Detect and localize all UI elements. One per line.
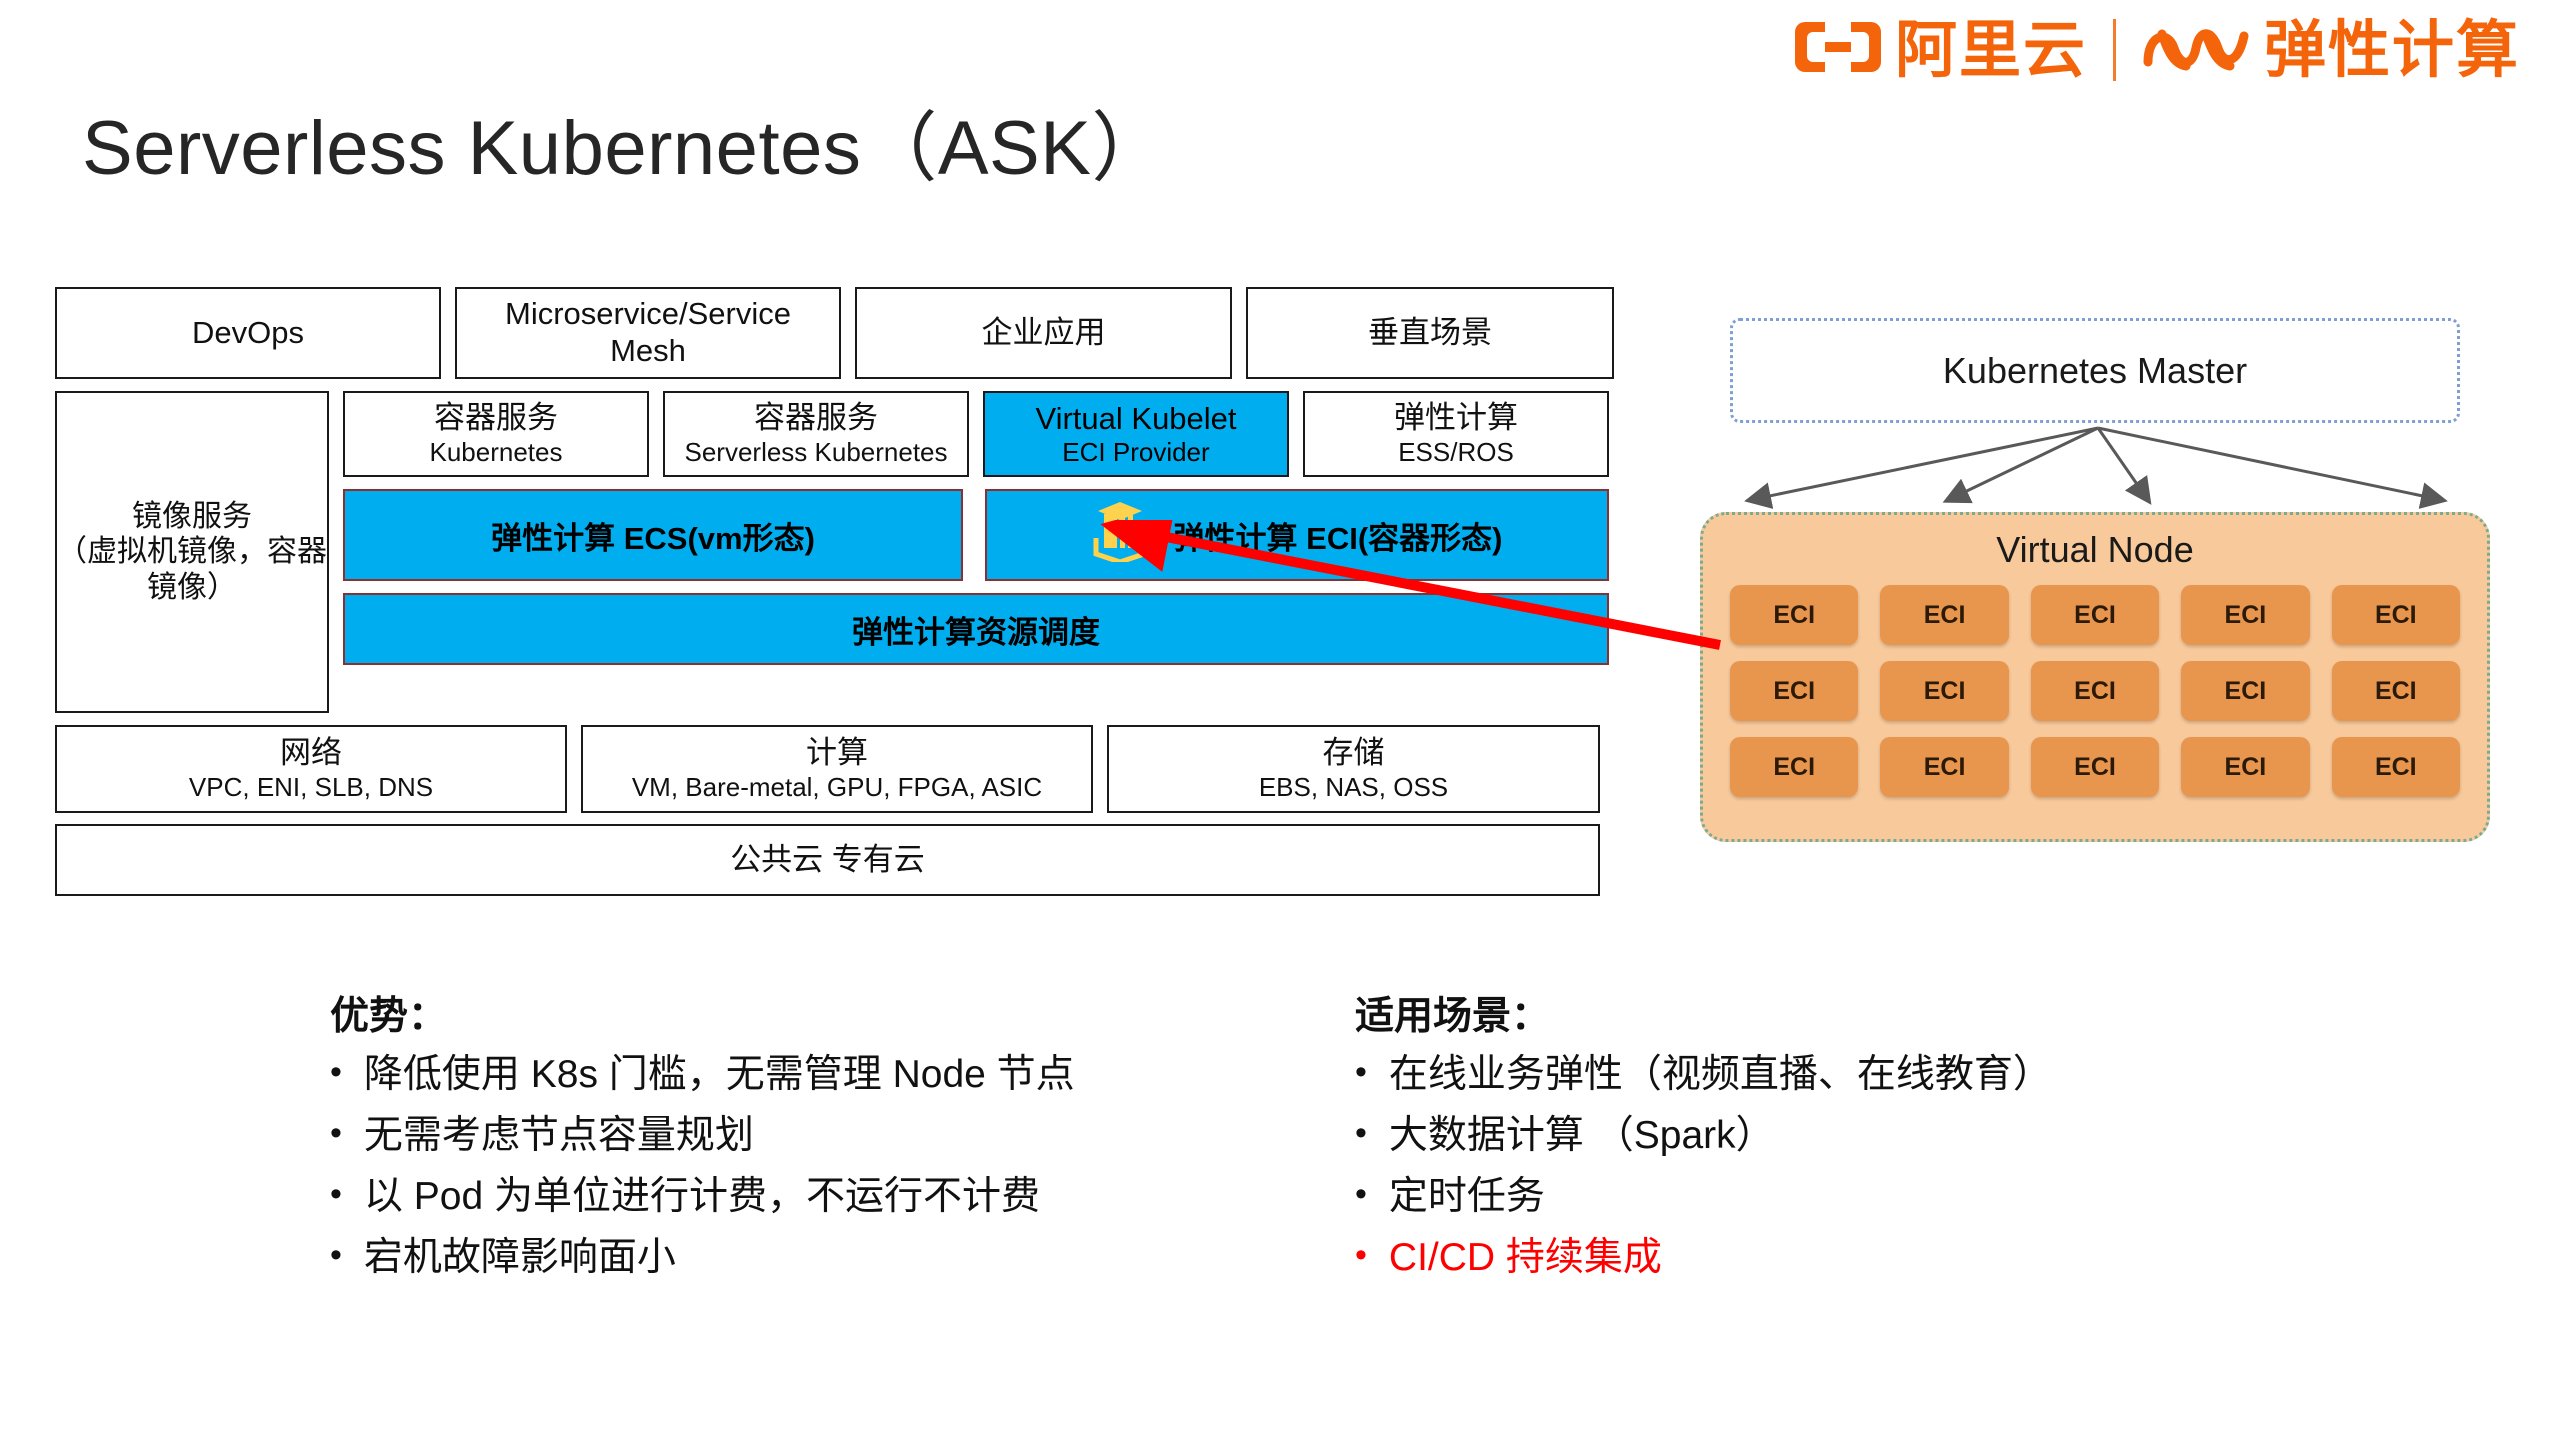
logo-divider xyxy=(2113,19,2116,81)
bullet-icon: • xyxy=(1355,1175,1367,1214)
arch-box-eci: 弹性计算 ECI(容器形态) xyxy=(985,489,1609,581)
list-item-label: 在线业务弹性（视频直播、在线教育） xyxy=(1389,1053,2052,1098)
alibaba-cloud-logo: 阿里云 xyxy=(1795,18,2087,81)
elastic-compute-logo: 弹性计算 xyxy=(2142,18,2520,81)
list-item-label: CI/CD 持续集成 xyxy=(1389,1236,1662,1281)
list-item: •大数据计算 （Spark） xyxy=(1355,1114,2315,1159)
scenarios-heading: 适用场景： xyxy=(1355,985,2315,1041)
list-item-label: 降低使用 K8s 门槛，无需管理 Node 节点 xyxy=(364,1053,1075,1098)
list-item: •CI/CD 持续集成 xyxy=(1355,1236,2315,1281)
elastic-compute-name: 弹性计算 xyxy=(2264,19,2520,81)
arch-box-label-2: Kubernetes xyxy=(430,437,563,468)
alibaba-cloud-name: 阿里云 xyxy=(1895,19,2087,81)
arch-box-label-2: EBS, NAS, OSS xyxy=(1259,772,1448,803)
alibaba-bracket-icon xyxy=(1795,18,1881,81)
eci-cell: ECI xyxy=(1730,737,1858,797)
virtual-node-box: Virtual Node ECIECIECIECIECIECIECIECIECI… xyxy=(1700,512,2490,842)
kubernetes-master-label: Kubernetes Master xyxy=(1943,350,2247,392)
arch-box-cloud-types: 公共云 专有云 xyxy=(55,824,1600,896)
arch-box-enterprise-app: 企业应用 xyxy=(855,287,1232,379)
image-service-label: 镜像服务 xyxy=(132,499,252,534)
virtual-node-diagram: Kubernetes Master Virtual Node ECIECIECI… xyxy=(1700,300,2500,860)
arch-box-label: 弹性计算 xyxy=(1394,400,1518,437)
arch-box-label: Microservice/Service xyxy=(505,296,791,333)
image-service-label-3: 镜像） xyxy=(147,570,237,605)
list-item-label: 以 Pod 为单位进行计费，不运行不计费 xyxy=(364,1175,1040,1220)
arch-box-devops: DevOps xyxy=(55,287,441,379)
image-service-column: 镜像服务 （虚拟机镜像，容器 镜像） xyxy=(55,391,329,713)
eci-grid: ECIECIECIECIECIECIECIECIECIECIECIECIECIE… xyxy=(1730,585,2460,797)
eci-cell: ECI xyxy=(2031,661,2159,721)
list-item: •在线业务弹性（视频直播、在线教育） xyxy=(1355,1053,2315,1098)
wave-logo-icon xyxy=(2142,18,2250,81)
service-layer-row: 容器服务 Kubernetes 容器服务 Serverless Kubernet… xyxy=(343,391,1609,477)
arch-box-label: 容器服务 xyxy=(754,400,878,437)
arch-box-label: 企业应用 xyxy=(982,315,1106,352)
list-item: •降低使用 K8s 门槛，无需管理 Node 节点 xyxy=(330,1053,1280,1098)
arch-box-elastic-compute-ess-ros: 弹性计算 ESS/ROS xyxy=(1303,391,1609,477)
arch-box-storage: 存储 EBS, NAS, OSS xyxy=(1107,725,1600,813)
eci-cell: ECI xyxy=(2181,585,2309,645)
arch-box-label-2: VM, Bare-metal, GPU, FPGA, ASIC xyxy=(632,772,1042,803)
eci-cell: ECI xyxy=(2181,737,2309,797)
list-item-label: 宕机故障影响面小 xyxy=(364,1236,676,1281)
scheduler-row: 弹性计算资源调度 xyxy=(343,593,1609,665)
arch-box-label: 容器服务 xyxy=(434,400,558,437)
arch-box-image-service: 镜像服务 （虚拟机镜像，容器 镜像） xyxy=(55,391,329,713)
eci-cell: ECI xyxy=(2332,737,2460,797)
cloud-label: 公共云 专有云 xyxy=(730,842,925,879)
eci-label: 弹性计算 ECI(容器形态) xyxy=(1174,513,1503,558)
eci-cell: ECI xyxy=(2031,737,2159,797)
eci-cell: ECI xyxy=(1880,737,2008,797)
ecs-label: 弹性计算 ECS(vm形态) xyxy=(491,513,815,558)
bullet-icon: • xyxy=(330,1175,342,1214)
arch-box-network: 网络 VPC, ENI, SLB, DNS xyxy=(55,725,567,813)
arch-box-label: 垂直场景 xyxy=(1368,315,1492,352)
arch-box-label-2: VPC, ENI, SLB, DNS xyxy=(189,772,433,803)
slide-canvas: 阿里云 弹性计算 Serverless Kubernetes（ASK） DevO… xyxy=(0,0,2560,1440)
arch-box-label: 网络 xyxy=(280,735,342,772)
scheduler-label: 弹性计算资源调度 xyxy=(852,607,1100,652)
list-item: •以 Pod 为单位进行计费，不运行不计费 xyxy=(330,1175,1280,1220)
arch-box-vertical-scene: 垂直场景 xyxy=(1246,287,1614,379)
bullet-icon: • xyxy=(1355,1114,1367,1153)
arch-box-label: 存储 xyxy=(1323,735,1385,772)
arch-box-virtual-kubelet: Virtual Kubelet ECI Provider xyxy=(983,391,1289,477)
advantages-heading: 优势： xyxy=(330,985,1280,1041)
eci-cell: ECI xyxy=(2332,661,2460,721)
brand-logo-bar: 阿里云 弹性计算 xyxy=(1795,18,2520,81)
virtual-node-label: Virtual Node xyxy=(1703,515,2487,571)
arch-box-label-2: ECI Provider xyxy=(1062,437,1209,468)
compute-layer-row: 弹性计算 ECS(vm形态) 弹性计算 ECI(容 xyxy=(343,489,1609,581)
arch-box-label: DevOps xyxy=(192,315,304,352)
eci-cell: ECI xyxy=(1880,661,2008,721)
list-item: •定时任务 xyxy=(1355,1175,2315,1220)
scenarios-list: •在线业务弹性（视频直播、在线教育）•大数据计算 （Spark）•定时任务•CI… xyxy=(1355,1053,2315,1280)
arch-box-microservice: Microservice/Service Mesh xyxy=(455,287,841,379)
list-item-label: 定时任务 xyxy=(1389,1175,1545,1220)
application-layer-row: DevOps Microservice/Service Mesh 企业应用 垂直… xyxy=(55,287,1600,379)
kubernetes-master-box: Kubernetes Master xyxy=(1730,318,2460,423)
platform-layer: 镜像服务 （虚拟机镜像，容器 镜像） 容器服务 Kubernetes 容器服务 … xyxy=(55,391,1600,713)
arch-box-compute: 计算 VM, Bare-metal, GPU, FPGA, ASIC xyxy=(581,725,1093,813)
eci-cell: ECI xyxy=(1730,661,1858,721)
eci-cell: ECI xyxy=(2031,585,2159,645)
page-title: Serverless Kubernetes（ASK） xyxy=(82,86,1168,196)
bullet-icon: • xyxy=(1355,1053,1367,1092)
list-item: •宕机故障影响面小 xyxy=(330,1236,1280,1281)
bullet-icon: • xyxy=(1355,1236,1367,1275)
list-item-label: 无需考虑节点容量规划 xyxy=(364,1114,754,1159)
list-item-label: 大数据计算 （Spark） xyxy=(1389,1114,1775,1159)
image-service-label-2: （虚拟机镜像，容器 xyxy=(57,534,327,569)
arch-box-label: 计算 xyxy=(806,735,868,772)
arch-box-label-2: Serverless Kubernetes xyxy=(684,437,947,468)
bullet-icon: • xyxy=(330,1114,342,1153)
cloud-row: 公共云 专有云 xyxy=(55,824,1600,896)
advantages-section: 优势： •降低使用 K8s 门槛，无需管理 Node 节点•无需考虑节点容量规划… xyxy=(330,985,1280,1296)
eci-cell: ECI xyxy=(1880,585,2008,645)
arch-box-label-2: ESS/ROS xyxy=(1398,437,1514,468)
platform-right-column: 容器服务 Kubernetes 容器服务 Serverless Kubernet… xyxy=(343,391,1609,713)
arch-box-label-2: Mesh xyxy=(610,333,686,370)
infrastructure-row: 网络 VPC, ENI, SLB, DNS 计算 VM, Bare-metal,… xyxy=(55,725,1600,813)
eci-cell: ECI xyxy=(2332,585,2460,645)
container-stack-icon xyxy=(1092,500,1148,570)
bullet-icon: • xyxy=(330,1053,342,1092)
arch-box-resource-scheduler: 弹性计算资源调度 xyxy=(343,593,1609,665)
eci-cell: ECI xyxy=(2181,661,2309,721)
scenarios-section: 适用场景： •在线业务弹性（视频直播、在线教育）•大数据计算 （Spark）•定… xyxy=(1355,985,2315,1296)
architecture-stack: DevOps Microservice/Service Mesh 企业应用 垂直… xyxy=(55,287,1600,896)
arch-box-container-service-k8s: 容器服务 Kubernetes xyxy=(343,391,649,477)
arch-box-container-service-serverless: 容器服务 Serverless Kubernetes xyxy=(663,391,969,477)
list-item: •无需考虑节点容量规划 xyxy=(330,1114,1280,1159)
eci-cell: ECI xyxy=(1730,585,1858,645)
advantages-list: •降低使用 K8s 门槛，无需管理 Node 节点•无需考虑节点容量规划•以 P… xyxy=(330,1053,1280,1280)
arch-box-label: Virtual Kubelet xyxy=(1035,401,1236,437)
bullet-icon: • xyxy=(330,1236,342,1275)
arch-box-ecs: 弹性计算 ECS(vm形态) xyxy=(343,489,963,581)
